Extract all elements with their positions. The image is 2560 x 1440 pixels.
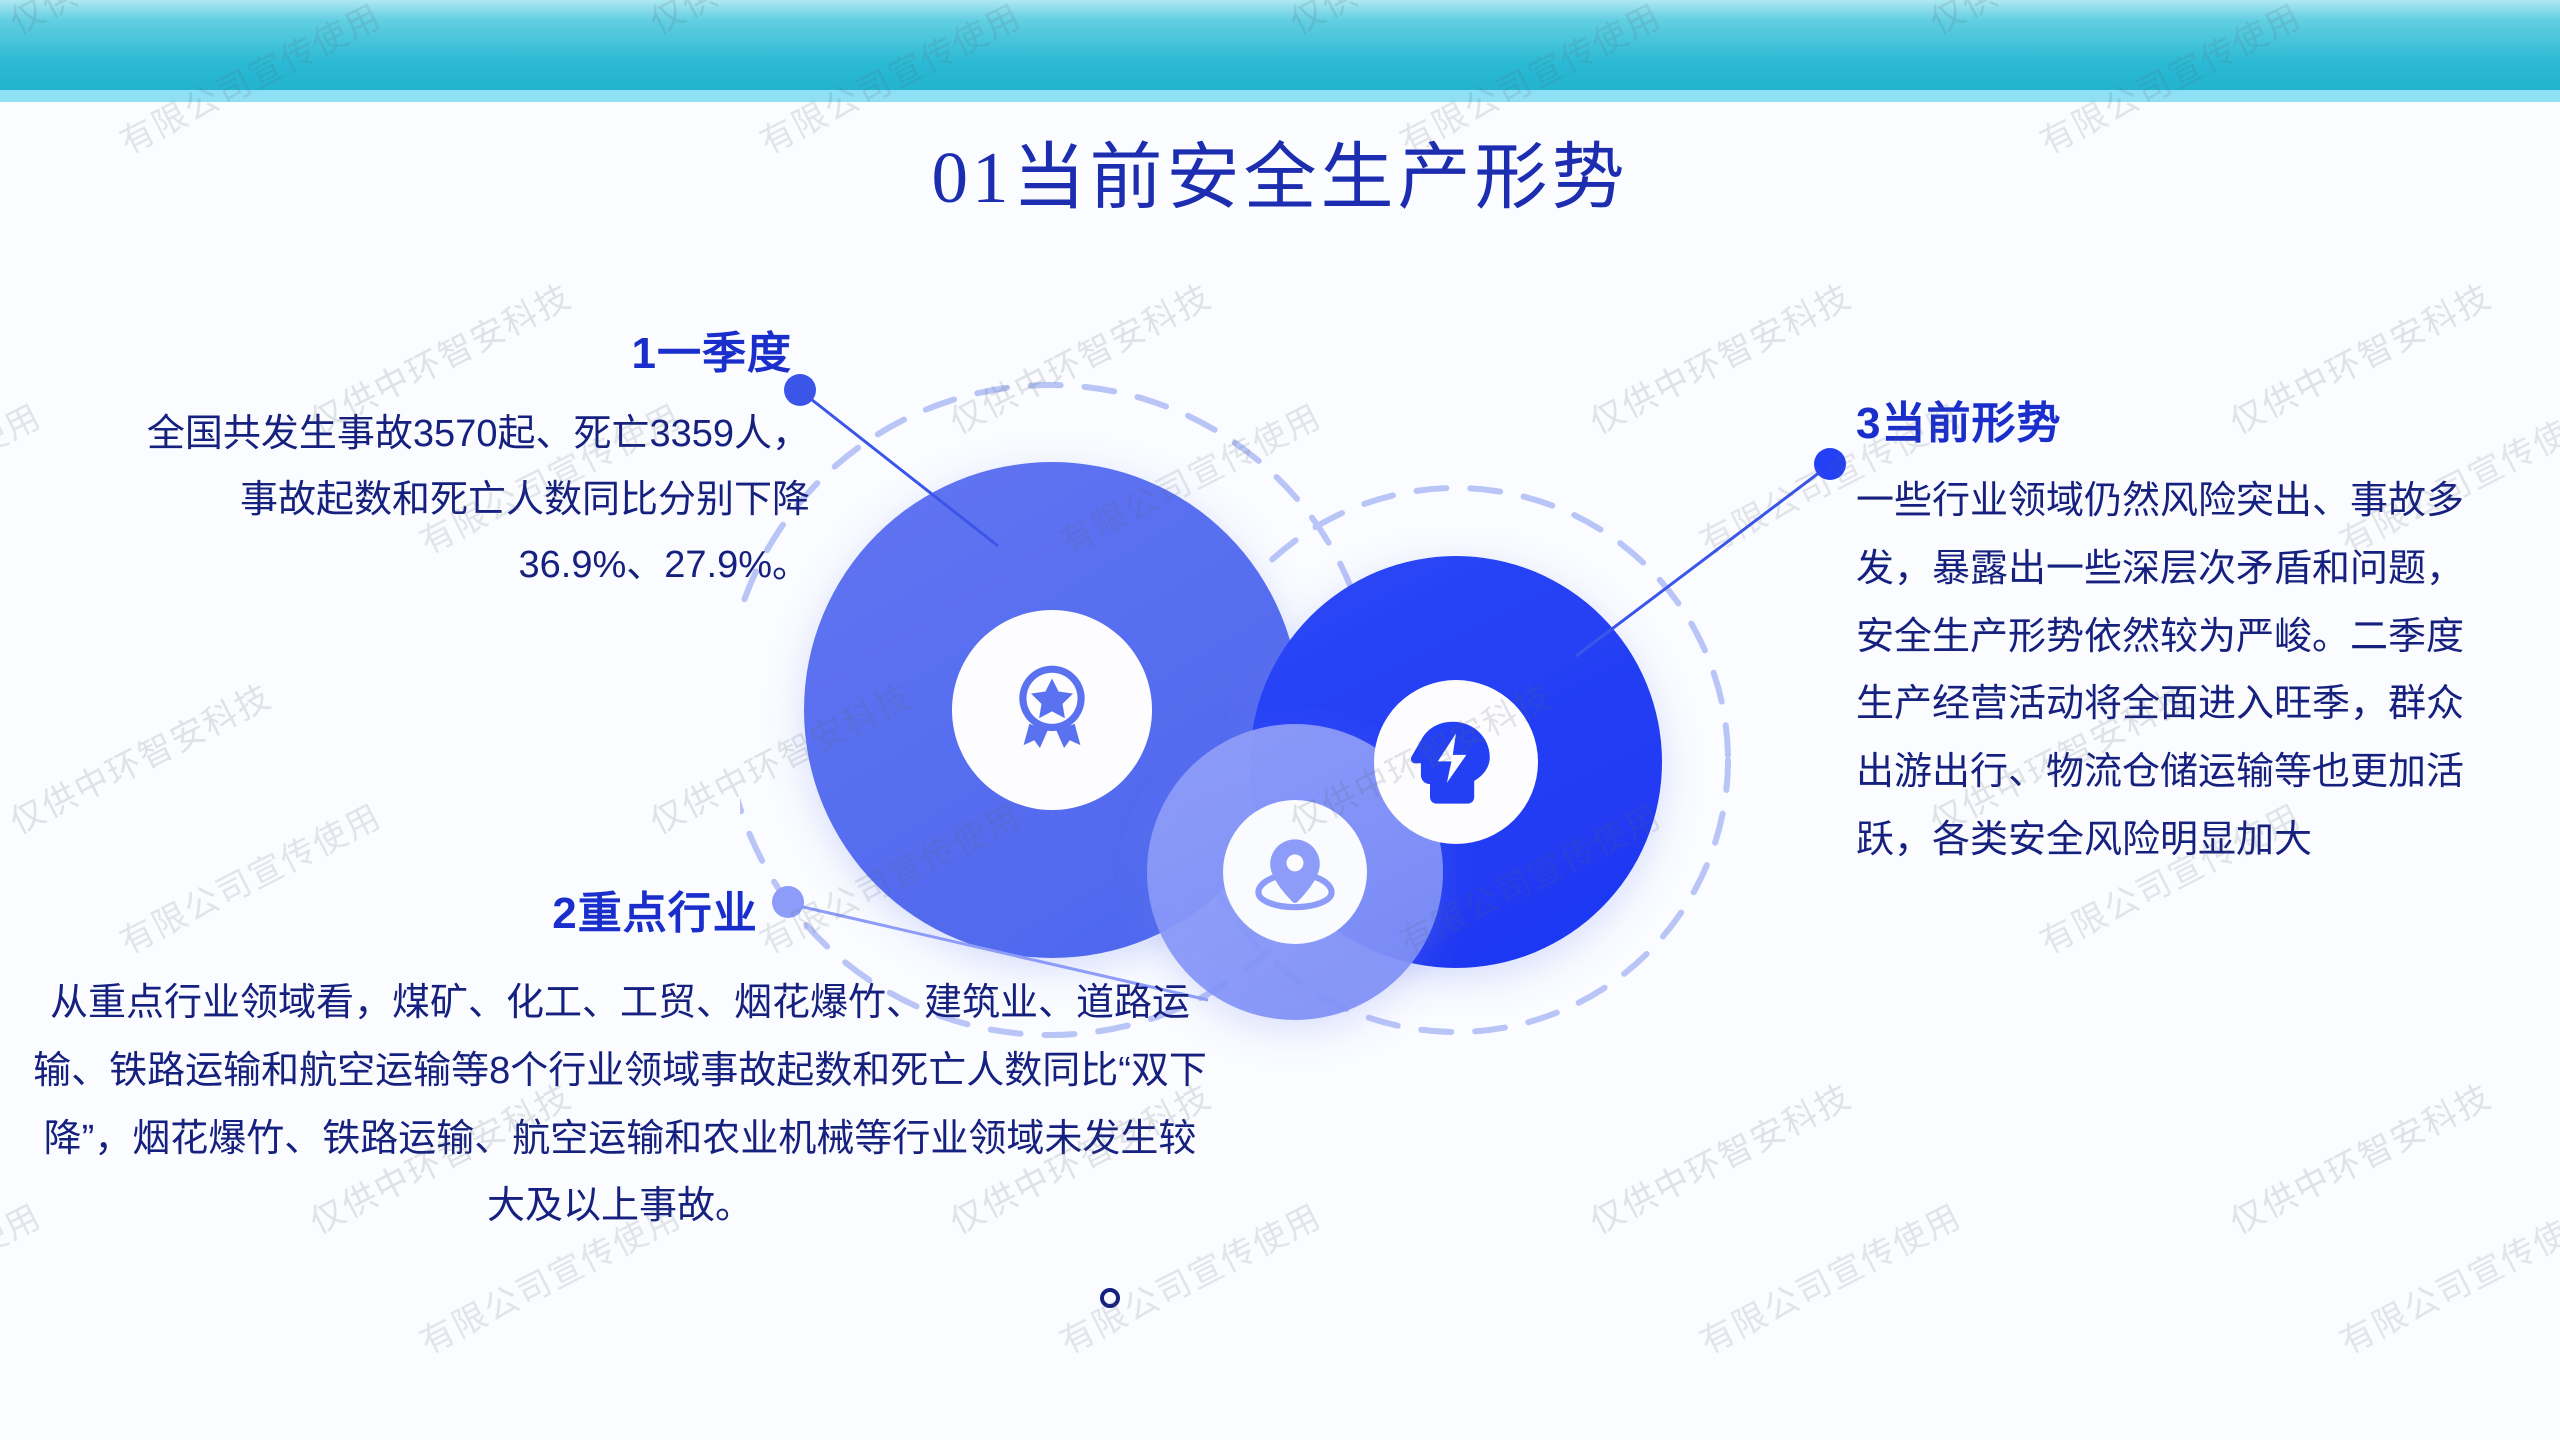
callout-situation-body: 一些行业领域仍然风险突出、事故多发，暴露出一些深层次矛盾和问题，安全生产形势依然…: [1856, 468, 2476, 874]
connector-line-situation: [1576, 466, 1828, 656]
watermark-text: 有限公司宣传使用: [1690, 1189, 1969, 1363]
callout-situation-heading: 3当前形势: [1856, 400, 2476, 448]
callout-industry: 2重点行业 从重点行业领域看，煤矿、化工、工贸、烟花爆竹、建筑业、道路运输、铁路…: [30, 890, 1210, 1241]
watermark-text: 有限公司宣传使用: [2330, 1189, 2560, 1363]
callout-situation: 3当前形势 一些行业领域仍然风险突出、事故多发，暴露出一些深层次矛盾和问题，安全…: [1856, 400, 2476, 874]
callout-quarter-heading: 1一季度: [130, 330, 810, 378]
header-underline-strip: [0, 90, 2560, 102]
watermark-text: 仅供中环智安科技: [0, 669, 279, 843]
connector-dot-situation: [1814, 448, 1846, 480]
watermark-text: 仅供中环智安科技: [2220, 1069, 2499, 1243]
decorative-dot: [1100, 1288, 1120, 1308]
watermark-text: 有限公司宣传使用: [0, 389, 49, 563]
callout-quarter-body: 全国共发生事故3570起、死亡3359人，事故起数和死亡人数同比分别下降36.9…: [130, 402, 810, 598]
callout-quarter: 1一季度 全国共发生事故3570起、死亡3359人，事故起数和死亡人数同比分别下…: [130, 330, 810, 598]
callout-industry-heading: 2重点行业: [30, 890, 1210, 938]
header-gradient-bar: [0, 0, 2560, 90]
page-title: 01当前安全生产形势: [0, 118, 2560, 224]
callout-industry-body: 从重点行业领域看，煤矿、化工、工贸、烟花爆竹、建筑业、道路运输、铁路运输和航空运…: [30, 970, 1210, 1241]
